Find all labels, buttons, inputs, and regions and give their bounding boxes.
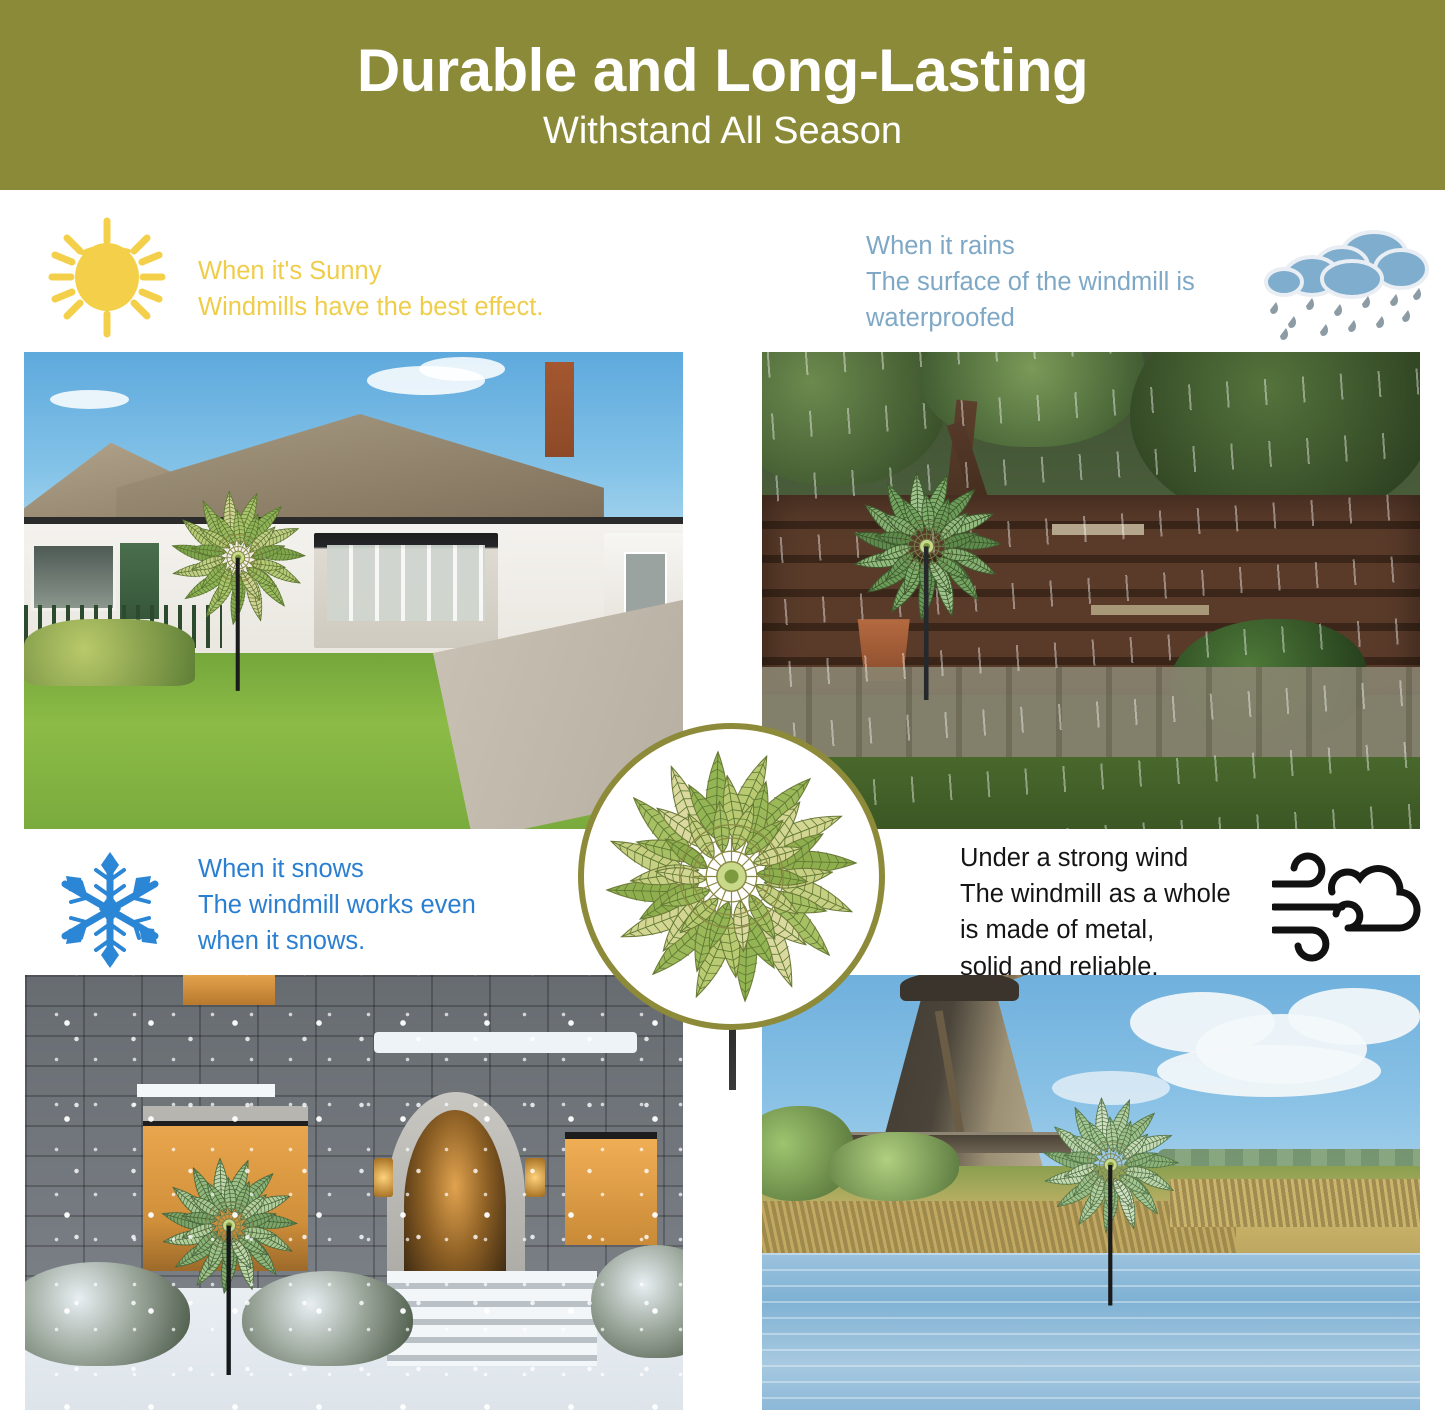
header-banner: Durable and Long-Lasting Withstand All S… bbox=[0, 0, 1445, 190]
wind-spinner-windmill bbox=[1012, 1088, 1209, 1306]
wind-caption: Under a strong wind The windmill as a wh… bbox=[960, 840, 1231, 985]
photo-sunny bbox=[24, 352, 683, 829]
rain-cloud-icon bbox=[1256, 224, 1432, 344]
leaf-wind-spinner-closeup bbox=[584, 729, 879, 1024]
snowflake-icon bbox=[46, 846, 174, 974]
infographic-page: Durable and Long-Lasting Withstand All S… bbox=[0, 0, 1445, 1418]
wind-cloud-icon bbox=[1272, 852, 1432, 962]
wind-spinner-sunny bbox=[136, 481, 340, 691]
photo-snow bbox=[25, 975, 683, 1410]
photo-rain bbox=[762, 352, 1420, 829]
center-product-badge bbox=[578, 723, 885, 1030]
photo-windmill bbox=[762, 975, 1420, 1410]
rain-caption: When it rains The surface of the windmil… bbox=[866, 228, 1195, 337]
sun-icon bbox=[37, 215, 177, 340]
page-subtitle: Withstand All Season bbox=[543, 112, 902, 152]
wind-spinner-rain bbox=[828, 462, 1025, 701]
snow-caption: When it snows The windmill works even wh… bbox=[198, 851, 476, 960]
sunny-caption: When it's Sunny Windmills have the best … bbox=[198, 253, 543, 325]
page-title: Durable and Long-Lasting bbox=[357, 39, 1088, 102]
